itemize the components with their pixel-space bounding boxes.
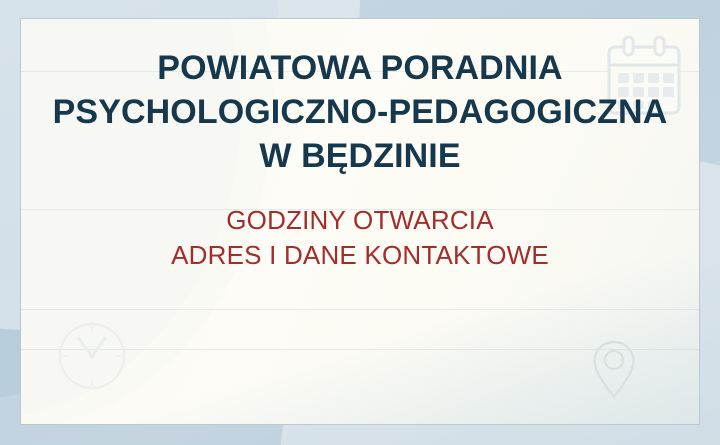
page-subtitle: GODZINY OTWARCIA ADRES I DANE KONTAKTOWE <box>0 203 720 275</box>
slide-text-block: POWIATOWA PORADNIA PSYCHOLOGICZNO-PEDAGO… <box>0 46 720 274</box>
clock-icon <box>57 321 127 396</box>
title-line-1: POWIATOWA PORADNIA <box>8 46 712 90</box>
page-title: POWIATOWA PORADNIA PSYCHOLOGICZNO-PEDAGO… <box>0 46 720 179</box>
title-line-2: PSYCHOLOGICZNO-PEDAGOGICZNA <box>8 90 712 134</box>
title-line-3: W BĘDZINIE <box>8 134 712 178</box>
map-pin-icon <box>591 339 637 406</box>
subtitle-line-1: GODZINY OTWARCIA <box>0 203 720 239</box>
card-streak-line <box>21 309 699 310</box>
presentation-slide: POWIATOWA PORADNIA PSYCHOLOGICZNO-PEDAGO… <box>0 0 720 445</box>
subtitle-line-2: ADRES I DANE KONTAKTOWE <box>0 238 720 274</box>
